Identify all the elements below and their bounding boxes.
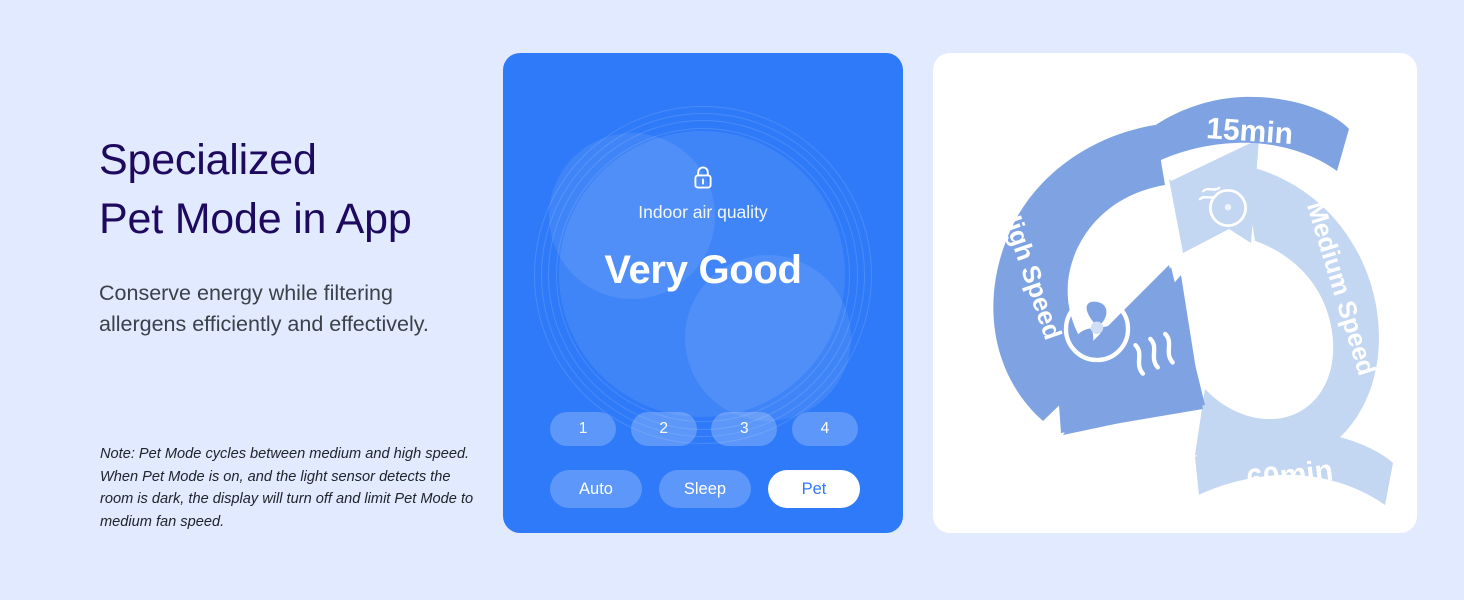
speed-button-3[interactable]: 3 (711, 412, 777, 446)
high-speed-time: 15min (1205, 112, 1294, 151)
pet-mode-cycle-card: Medium Speed 60min Hi (933, 53, 1417, 533)
air-quality-value: Very Good (503, 248, 903, 293)
mode-button-row: Auto Sleep Pet (550, 470, 860, 508)
speed-button-4[interactable]: 4 (792, 412, 858, 446)
mode-button-pet[interactable]: Pet (768, 470, 860, 508)
fan-speed-button-row: 1 2 3 4 (550, 412, 858, 446)
page-title: Specialized Pet Mode in App (99, 131, 412, 250)
lock-icon (692, 165, 714, 190)
air-quality-label: Indoor air quality (503, 202, 903, 223)
mode-button-sleep[interactable]: Sleep (659, 470, 751, 508)
speed-button-2[interactable]: 2 (631, 412, 697, 446)
high-speed-arrow: High Speed 15min (993, 97, 1349, 435)
app-preview-card: Indoor air quality Very Good 1 2 3 4 Aut… (503, 53, 903, 533)
pet-mode-note: Note: Pet Mode cycles between medium and… (100, 443, 480, 533)
speed-button-1[interactable]: 1 (550, 412, 616, 446)
intro-text-column: Specialized Pet Mode in App Conserve ene… (99, 53, 499, 533)
pet-mode-cycle-diagram: Medium Speed 60min Hi (933, 53, 1417, 533)
mode-button-auto[interactable]: Auto (550, 470, 642, 508)
page-subtitle: Conserve energy while filtering allergen… (99, 278, 499, 339)
air-quality-readout: Indoor air quality Very Good (503, 165, 903, 293)
medium-speed-arrow: Medium Speed 60min (1169, 139, 1393, 505)
